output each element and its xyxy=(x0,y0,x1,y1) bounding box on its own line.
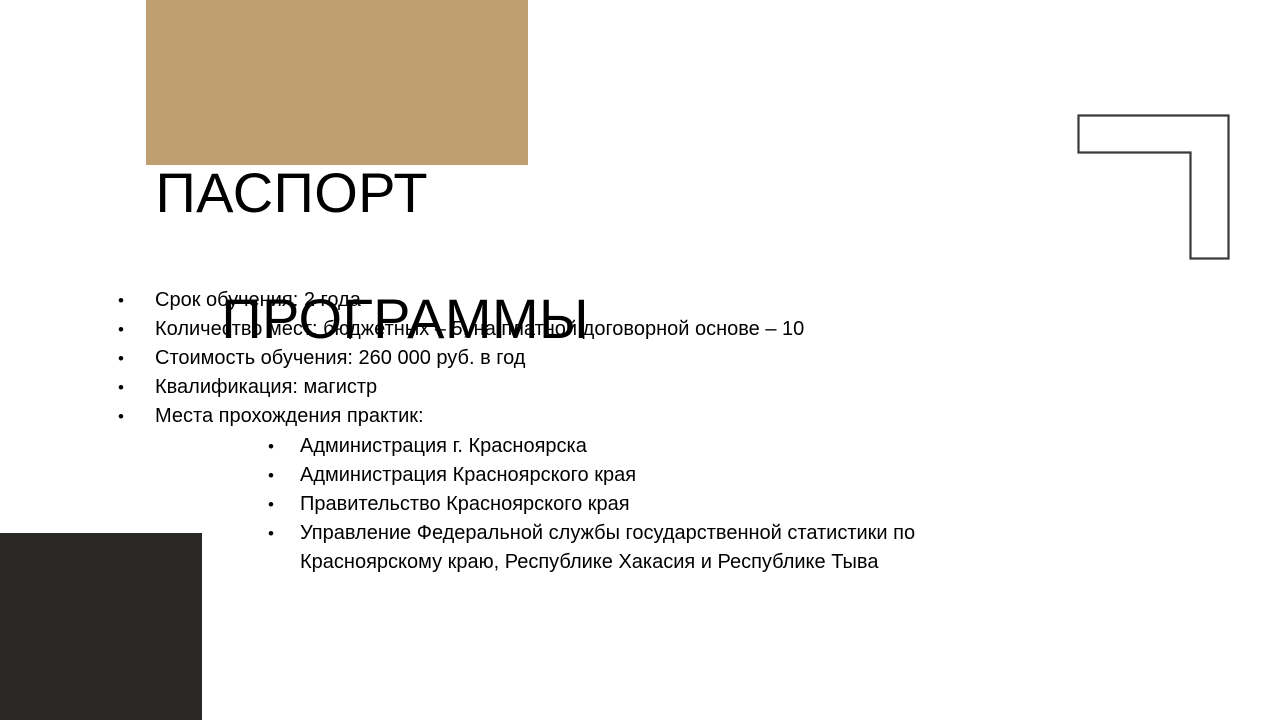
bullet-icon: • xyxy=(118,402,155,431)
bullet-icon: • xyxy=(268,519,300,548)
corner-bracket-icon xyxy=(1070,107,1240,267)
list-item-label: Количество мест: бюджетных – 5, на платн… xyxy=(155,315,1118,344)
sub-list-item: • Правительство Красноярского края xyxy=(268,490,1118,519)
list-item-label: Срок обучения: 2 года xyxy=(155,286,1118,315)
sub-list-item-label: Администрация Красноярского края xyxy=(300,461,1024,490)
sub-list-item-label: Управление Федеральной службы государств… xyxy=(300,519,1024,577)
sub-list-item-label: Правительство Красноярского края xyxy=(300,490,1024,519)
list-item-label: Квалификация: магистр xyxy=(155,373,1118,402)
bullet-icon: • xyxy=(118,344,155,373)
bullet-icon: • xyxy=(268,490,300,519)
list-item-label: Стоимость обучения: 260 000 руб. в год xyxy=(155,344,1118,373)
list-item: • Квалификация: магистр xyxy=(118,373,1118,402)
sub-list-item-label: Администрация г. Красноярска xyxy=(300,432,1024,461)
sub-list-item: • Администрация г. Красноярска xyxy=(268,432,1118,461)
bullet-icon: • xyxy=(268,432,300,461)
bullet-icon: • xyxy=(118,373,155,402)
list-item: • Количество мест: бюджетных – 5, на пла… xyxy=(118,315,1118,344)
sub-list-item: • Управление Федеральной службы государс… xyxy=(268,519,1118,577)
bullet-icon: • xyxy=(118,315,155,344)
practice-locations-list: • Администрация г. Красноярска • Админис… xyxy=(118,432,1118,577)
list-item: • Места прохождения практик: xyxy=(118,402,1118,431)
slide-canvas: ПАСПОРТ ПРОГРАММЫ • Срок обучения: 2 год… xyxy=(0,0,1280,720)
sub-list-item: • Администрация Красноярского края xyxy=(268,461,1118,490)
bullet-icon: • xyxy=(268,461,300,490)
program-details-list: • Срок обучения: 2 года • Количество мес… xyxy=(118,286,1118,577)
bullet-icon: • xyxy=(118,286,155,315)
list-item-label: Места прохождения практик: xyxy=(155,402,1118,431)
page-title-line-1: ПАСПОРТ xyxy=(0,161,600,224)
list-item: • Стоимость обучения: 260 000 руб. в год xyxy=(118,344,1118,373)
list-item: • Срок обучения: 2 года xyxy=(118,286,1118,315)
